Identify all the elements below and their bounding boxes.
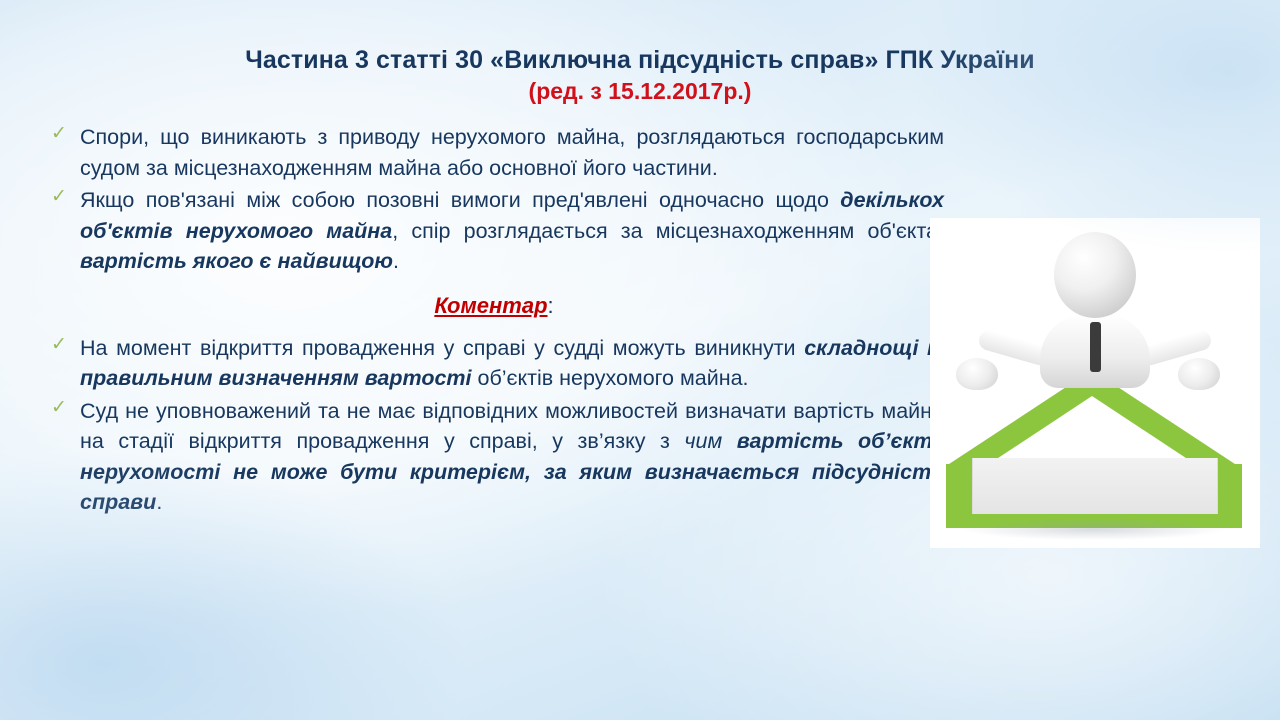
illustration-person-with-house bbox=[930, 218, 1260, 548]
check-mark-icon: ✓ bbox=[50, 125, 68, 143]
person-head bbox=[1054, 232, 1136, 318]
house-wall-shape bbox=[972, 458, 1218, 516]
illustration-canvas bbox=[930, 218, 1260, 548]
check-mark-icon: ✓ bbox=[50, 399, 68, 417]
bullet-3-text: На момент відкриття провадження у справі… bbox=[80, 336, 944, 391]
list-item: ✓ Якщо пов'язані між собою позовні вимог… bbox=[44, 185, 944, 277]
bullet-2-text: Якщо пов'язані між собою позовні вимоги … bbox=[80, 188, 944, 273]
slide-title-block: Частина 3 статті 30 «Виключна підсудніст… bbox=[40, 46, 1240, 105]
list-item: ✓ На момент відкриття провадження у спра… bbox=[44, 333, 944, 394]
check-mark-icon: ✓ bbox=[50, 188, 68, 206]
title-main: Частина 3 статті 30 «Виключна підсудніст… bbox=[40, 46, 1240, 76]
person-tie bbox=[1090, 322, 1101, 372]
bullet-1-text: Спори, що виникають з приводу нерухомого… bbox=[80, 125, 944, 180]
bullet-4-text: Суд не уповноважений та не має відповідн… bbox=[80, 399, 944, 515]
person-left-hand bbox=[956, 358, 998, 390]
house-roof-inner-shape bbox=[986, 396, 1198, 466]
slide-body: ✓ Спори, що виникають з приводу нерухомо… bbox=[44, 122, 944, 520]
comment-keyword: Коментар bbox=[434, 293, 547, 318]
comment-colon: : bbox=[548, 293, 554, 318]
check-mark-icon: ✓ bbox=[50, 336, 68, 354]
person-right-hand bbox=[1178, 358, 1220, 390]
figure-shadow bbox=[964, 518, 1224, 540]
comment-heading: Коментар: bbox=[44, 293, 944, 319]
list-item: ✓ Суд не уповноважений та не має відпові… bbox=[44, 396, 944, 518]
title-revision-note: (ред. з 15.12.2017р.) bbox=[40, 78, 1240, 106]
list-item: ✓ Спори, що виникають з приводу нерухомо… bbox=[44, 122, 944, 183]
slide: Частина 3 статті 30 «Виключна підсудніст… bbox=[0, 0, 1280, 720]
